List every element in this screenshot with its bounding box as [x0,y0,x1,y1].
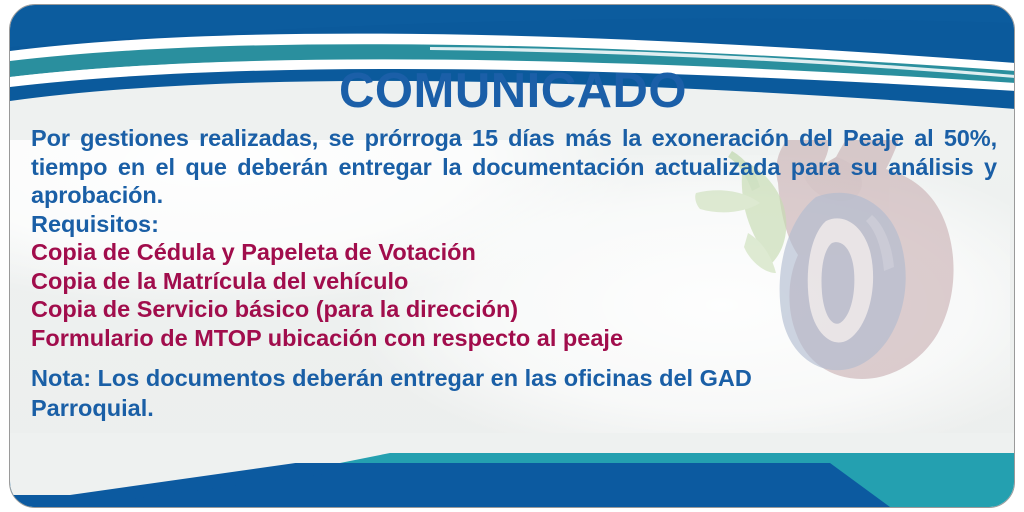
page-title: COMUNICADO [10,63,1015,119]
poster-card: COMUNICADO Por gestiones realizadas, se … [9,4,1015,508]
poster-body: Por gestiones realizadas, se prórroga 15… [31,124,997,423]
list-item: Copia de la Matrícula del vehículo [31,267,997,296]
list-item: Copia de Servicio básico (para la direcc… [31,295,997,324]
list-item: Formulario de MTOP ubicación con respect… [31,324,997,353]
requirements-list: Copia de Cédula y Papeleta de Votación C… [31,238,997,352]
intro-paragraph: Por gestiones realizadas, se prórroga 15… [31,124,997,210]
requirements-label: Requisitos: [31,210,997,239]
note-text: Nota: Los documentos deberán entregar en… [31,352,861,423]
list-item: Copia de Cédula y Papeleta de Votación [31,238,997,267]
communique-poster: COMUNICADO Por gestiones realizadas, se … [0,0,1024,512]
poster-content: COMUNICADO Por gestiones realizadas, se … [10,5,1015,508]
